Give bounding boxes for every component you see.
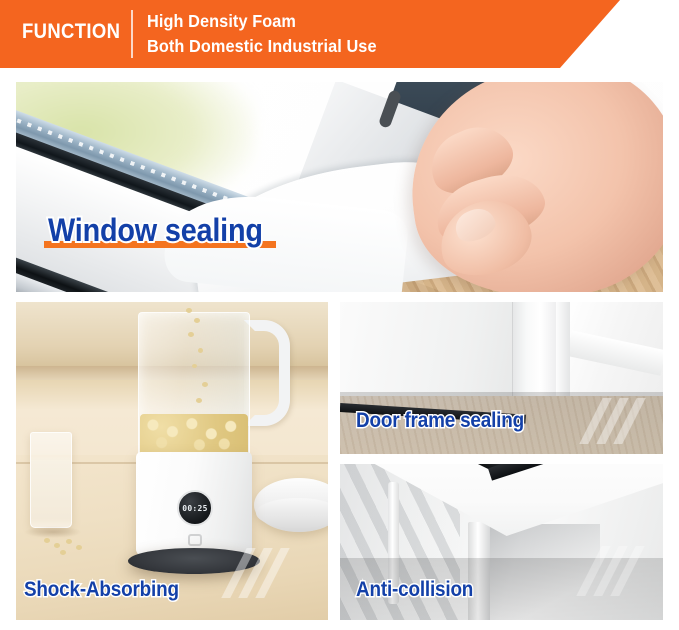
caption-window-sealing: Window sealing	[48, 212, 263, 249]
header-blue-stripe-3	[631, 0, 679, 68]
blender-brand-logo-icon	[188, 534, 202, 546]
blender-display-value: 00:25	[182, 504, 208, 513]
header-banner: FUNCTION High Density Foam Both Domestic…	[0, 0, 679, 68]
blender-bean	[76, 545, 82, 550]
header-line-1: High Density Foam	[147, 9, 377, 34]
blender-handle	[244, 320, 290, 426]
blender-bean	[44, 538, 50, 543]
blender-shock-absorbing-mat	[128, 548, 260, 574]
blender-falling-bean	[188, 332, 194, 337]
header-text-block: High Density Foam Both Domestic Industri…	[147, 9, 394, 59]
blender-bean	[60, 550, 66, 555]
caption-shock-absorbing: Shock-Absorbing	[24, 578, 179, 602]
caption-door-frame-sealing: Door frame sealing	[356, 409, 524, 433]
blender-display: 00:25	[177, 490, 213, 526]
product-infographic: FUNCTION High Density Foam Both Domestic…	[0, 0, 679, 630]
panel-window-sealing	[16, 82, 663, 292]
blender-falling-bean	[194, 318, 200, 323]
blender-falling-bean	[186, 308, 192, 313]
header-divider	[131, 10, 133, 58]
header-function-label: FUNCTION	[22, 18, 120, 46]
blender-falling-bean	[196, 398, 202, 403]
header-line-2: Both Domestic Industrial Use	[147, 34, 377, 59]
blender-falling-bean	[202, 382, 208, 387]
blender-glass-of-soymilk	[30, 432, 72, 528]
panel-shock-absorbing: 00:25	[16, 302, 328, 620]
caption-anti-collision: Anti-collision	[356, 578, 473, 602]
blender-falling-bean	[192, 364, 197, 368]
blender-bean	[66, 539, 72, 544]
blender-falling-bean	[198, 348, 203, 353]
blender-glass-shadow	[24, 526, 82, 538]
blender-bean	[54, 543, 60, 548]
